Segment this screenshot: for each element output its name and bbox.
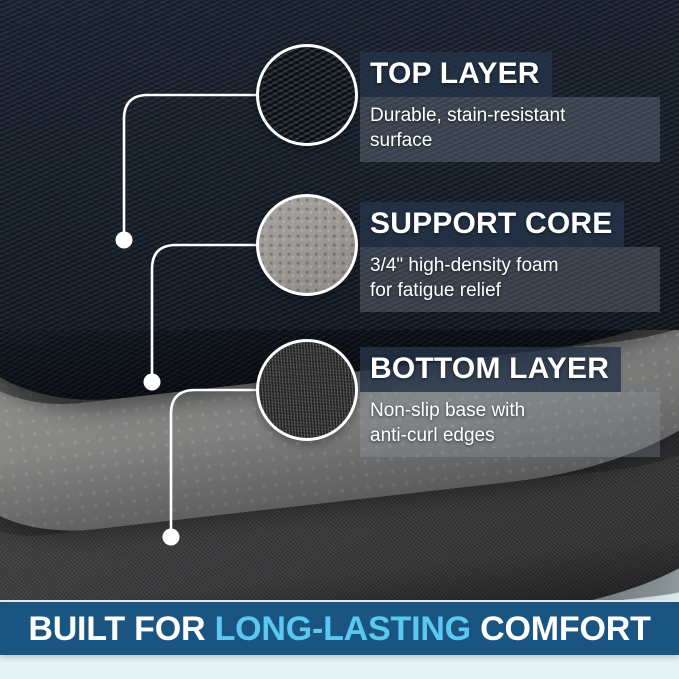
callout-body-top-layer: Durable, stain-resistant surface	[360, 97, 660, 162]
callout-title-bottom-layer: BOTTOM LAYER	[360, 347, 621, 392]
banner-text-after: COMFORT	[471, 610, 651, 648]
callout-support-core: SUPPORT CORE 3/4" high-density foam for …	[360, 202, 660, 312]
callout-body-bottom-layer: Non-slip base with anti-curl edges	[360, 392, 660, 457]
callout-body-line-2: anti-curl edges	[370, 423, 646, 448]
callout-body-line-2: surface	[370, 128, 646, 153]
banner-text-highlight: LONG-LASTING	[215, 610, 471, 648]
callout-body-line-2: for fatigue relief	[370, 278, 646, 303]
support-core-texture-swatch	[256, 194, 358, 296]
callout-body-line-1: Durable, stain-resistant	[370, 103, 646, 128]
callout-body-line-1: Non-slip base with	[370, 398, 646, 423]
callout-body-line-1: 3/4" high-density foam	[370, 253, 646, 278]
top-layer-texture-swatch	[256, 44, 358, 146]
callout-body-support-core: 3/4" high-density foam for fatigue relie…	[360, 247, 660, 312]
banner-text-before: BUILT FOR	[28, 610, 214, 648]
callout-title-top-layer: TOP LAYER	[360, 52, 552, 97]
bottom-layer-texture-swatch	[256, 339, 358, 441]
callout-bottom-layer: BOTTOM LAYER Non-slip base with anti-cur…	[360, 347, 660, 457]
banner-headline: BUILT FOR LONG-LASTING COMFORT	[28, 612, 650, 646]
product-infographic: TOP LAYER Durable, stain-resistant surfa…	[0, 0, 679, 679]
product-photo: TOP LAYER Durable, stain-resistant surfa…	[0, 0, 679, 600]
callout-top-layer: TOP LAYER Durable, stain-resistant surfa…	[360, 52, 660, 162]
bottom-banner: BUILT FOR LONG-LASTING COMFORT	[0, 602, 679, 655]
callout-title-support-core: SUPPORT CORE	[360, 202, 624, 247]
